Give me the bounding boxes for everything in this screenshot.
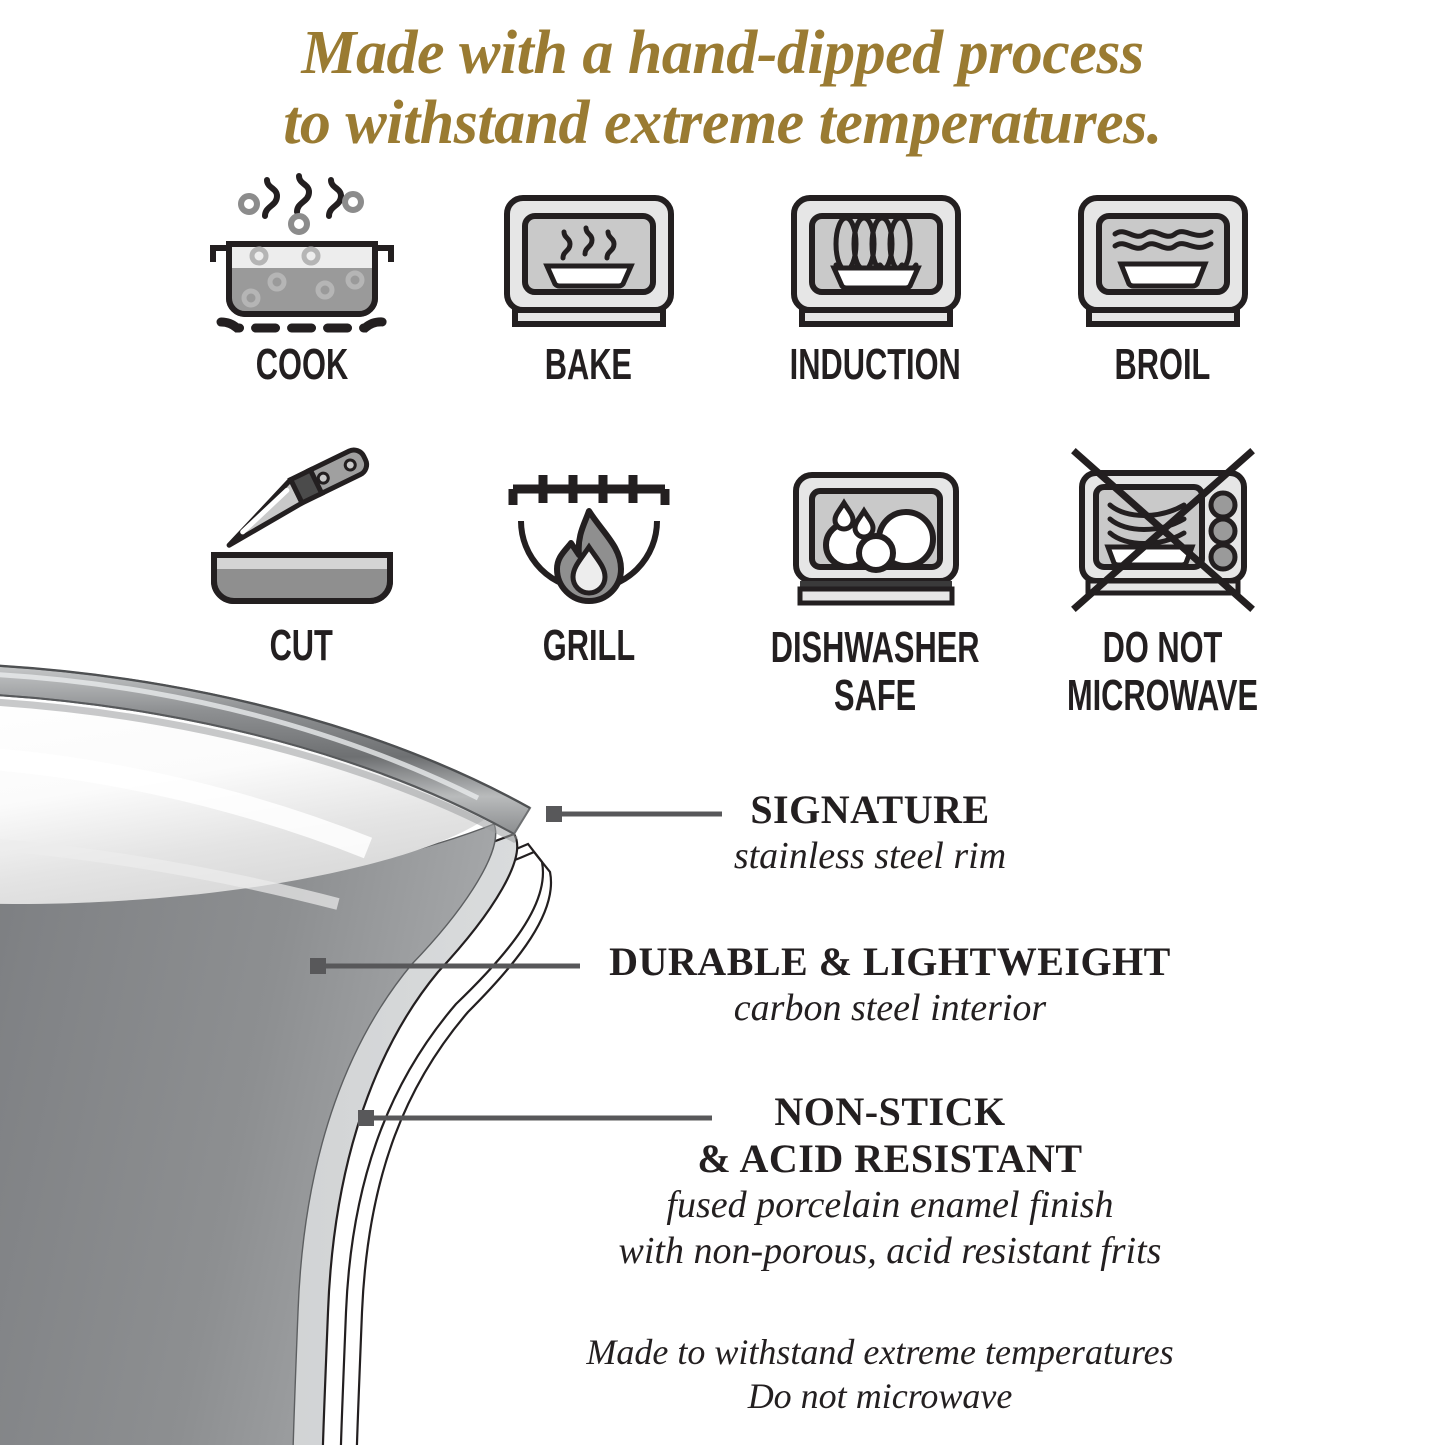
callout-title-line-2: & ACID RESISTANT: [520, 1135, 1260, 1182]
usage-icon-label: DO NOT MICROWAVE: [1067, 624, 1258, 720]
oven-induction-coil-icon: [786, 172, 966, 337]
dishwasher-dishes-icon: [786, 443, 966, 618]
usage-icon-label: COOK: [255, 343, 347, 387]
callout-subtitle: stainless steel rim: [640, 833, 1100, 879]
usage-icon-label-line-2: SAFE: [834, 671, 916, 720]
usage-icon-dishwasher: DISHWASHER SAFE: [732, 443, 1019, 720]
headline-line-2: to withstand extreme temperatures.: [0, 88, 1445, 158]
usage-icon-broil: BROIL: [1019, 172, 1306, 387]
footnote-block: Made to withstand extreme temperatures D…: [440, 1330, 1320, 1418]
page-headline: Made with a hand-dipped process to withs…: [0, 18, 1445, 158]
pot-cutaway-illustration: [0, 612, 638, 1445]
usage-icon-label-line-1: DO NOT: [1103, 623, 1223, 672]
usage-icon-label-line-1: DISHWASHER: [771, 623, 980, 672]
callout-title: SIGNATURE: [640, 786, 1100, 833]
usage-icon-label: BAKE: [545, 343, 632, 387]
usage-icon-induction: INDUCTION: [732, 172, 1019, 387]
microwave-crossed-out-icon: [1068, 443, 1258, 618]
pot-boiling-icon: [207, 172, 397, 337]
usage-icon-label-line-2: MICROWAVE: [1067, 671, 1258, 720]
callout-signature: SIGNATURE stainless steel rim: [640, 786, 1100, 879]
usage-icon-label: BROIL: [1115, 343, 1211, 387]
usage-icon-cook: COOK: [158, 172, 445, 387]
oven-bake-icon: [499, 172, 679, 337]
footnote-line-2: Do not microwave: [440, 1374, 1320, 1418]
callout-subtitle-line-1: fused porcelain enamel finish: [520, 1182, 1260, 1228]
callout-title-line-1: NON-STICK: [520, 1088, 1260, 1135]
usage-icon-row-1: COOK BA: [158, 172, 1308, 387]
footnote-line-1: Made to withstand extreme temperatures: [440, 1330, 1320, 1374]
infographic-page: Made with a hand-dipped process to withs…: [0, 0, 1445, 1445]
oven-broil-element-icon: [1073, 172, 1253, 337]
grill-grate-flame-icon: [499, 443, 679, 618]
knife-over-pan-icon: [202, 443, 402, 618]
callout-non-stick-acid-resistant: NON-STICK & ACID RESISTANT fused porcela…: [520, 1088, 1260, 1274]
callout-durable-lightweight: DURABLE & LIGHTWEIGHT carbon steel inter…: [560, 938, 1220, 1031]
callout-title: DURABLE & LIGHTWEIGHT: [560, 938, 1220, 985]
usage-icon-bake: BAKE: [445, 172, 732, 387]
usage-icon-do-not-microwave: DO NOT MICROWAVE: [1019, 443, 1306, 720]
usage-icon-label: INDUCTION: [790, 343, 961, 387]
headline-line-1: Made with a hand-dipped process: [0, 18, 1445, 88]
usage-icon-label: DISHWASHER SAFE: [771, 624, 980, 720]
callout-subtitle: carbon steel interior: [560, 985, 1220, 1031]
callout-subtitle-line-2: with non-porous, acid resistant frits: [520, 1228, 1260, 1274]
